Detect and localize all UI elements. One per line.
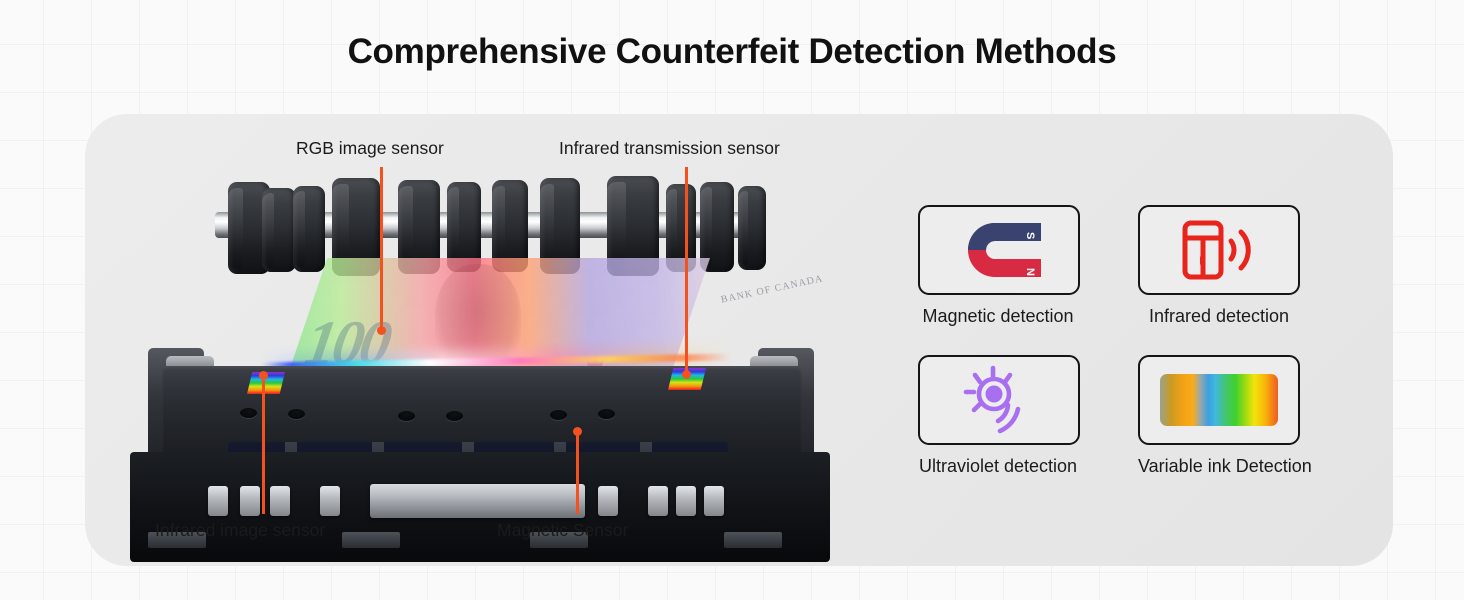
base-vent-slot <box>724 532 782 548</box>
method-card-label: Variable ink Detection <box>1138 456 1300 477</box>
bed-hole <box>550 410 567 420</box>
scanner-illustration: 100 BANK OF CANADA <box>110 160 850 510</box>
bed-hole <box>398 411 415 421</box>
leader-line-rgb-image-sensor <box>380 167 383 331</box>
method-card-variable-ink-detection[interactable]: Variable ink Detection <box>1138 355 1300 477</box>
method-card-infrared-detection[interactable]: Infrared detection <box>1138 205 1300 327</box>
method-card-box[interactable]: S N <box>918 205 1080 295</box>
bed-hole <box>240 408 257 418</box>
magnetic-head-pad <box>240 486 260 516</box>
leader-dot-infrared-image-sensor <box>259 371 268 380</box>
magnet-pole-south-label: S <box>1024 232 1036 239</box>
base-vent-slot <box>342 532 400 548</box>
magnetic-head-pad <box>320 486 340 516</box>
method-card-box[interactable] <box>1138 355 1300 445</box>
callout-label-rgb-image-sensor: RGB image sensor <box>296 138 444 159</box>
method-card-label: Infrared detection <box>1138 306 1300 327</box>
method-card-box[interactable] <box>918 355 1080 445</box>
color-spectrum-swatch-icon <box>1140 357 1298 443</box>
detection-methods-grid: S N Magnetic detection Infrared detectio… <box>900 195 1340 495</box>
magnetic-head-pad <box>270 486 290 516</box>
infrared-remote-icon <box>1140 207 1298 293</box>
magnetic-head-pad <box>676 486 696 516</box>
roller-disc <box>293 186 325 272</box>
horseshoe-magnet-icon: S N <box>920 207 1078 293</box>
magnetic-head-pad <box>704 486 724 516</box>
roller-disc <box>262 188 296 272</box>
callout-label-infrared-transmission-sensor: Infrared transmission sensor <box>559 138 780 159</box>
uv-sun-rays-icon <box>920 357 1078 443</box>
leader-dot-magnetic-sensor <box>573 427 582 436</box>
leader-line-infrared-image-sensor <box>262 376 265 514</box>
method-card-magnetic-detection[interactable]: S N Magnetic detection <box>918 205 1080 327</box>
magnetic-head-pad <box>648 486 668 516</box>
banknote-issuer: BANK OF CANADA <box>720 273 824 305</box>
bed-hole <box>446 411 463 421</box>
magnet-pole-north-label: N <box>1024 268 1036 276</box>
callout-label-infrared-image-sensor: Infrared image sensor <box>155 520 325 541</box>
bed-hole <box>288 409 305 419</box>
leader-line-infrared-transmission-sensor <box>685 167 688 373</box>
method-card-label: Magnetic detection <box>917 306 1079 327</box>
method-card-label: Ultraviolet detection <box>917 456 1079 477</box>
method-card-box[interactable] <box>1138 205 1300 295</box>
magnetic-head-main <box>370 484 585 518</box>
leader-dot-infrared-transmission-sensor <box>682 370 691 379</box>
bed-hole <box>598 409 615 419</box>
ink-gradient-swatch <box>1160 374 1278 426</box>
magnetic-head-pad <box>208 486 228 516</box>
method-card-ultraviolet-detection[interactable]: Ultraviolet detection <box>918 355 1080 477</box>
magnetic-head-pad <box>598 486 618 516</box>
leader-line-magnetic-sensor <box>576 432 579 514</box>
callout-label-magnetic-sensor: Magnetic Sensor <box>497 520 628 541</box>
leader-dot-rgb-image-sensor <box>377 326 386 335</box>
roller-disc <box>738 186 766 270</box>
page-title: Comprehensive Counterfeit Detection Meth… <box>0 32 1464 72</box>
